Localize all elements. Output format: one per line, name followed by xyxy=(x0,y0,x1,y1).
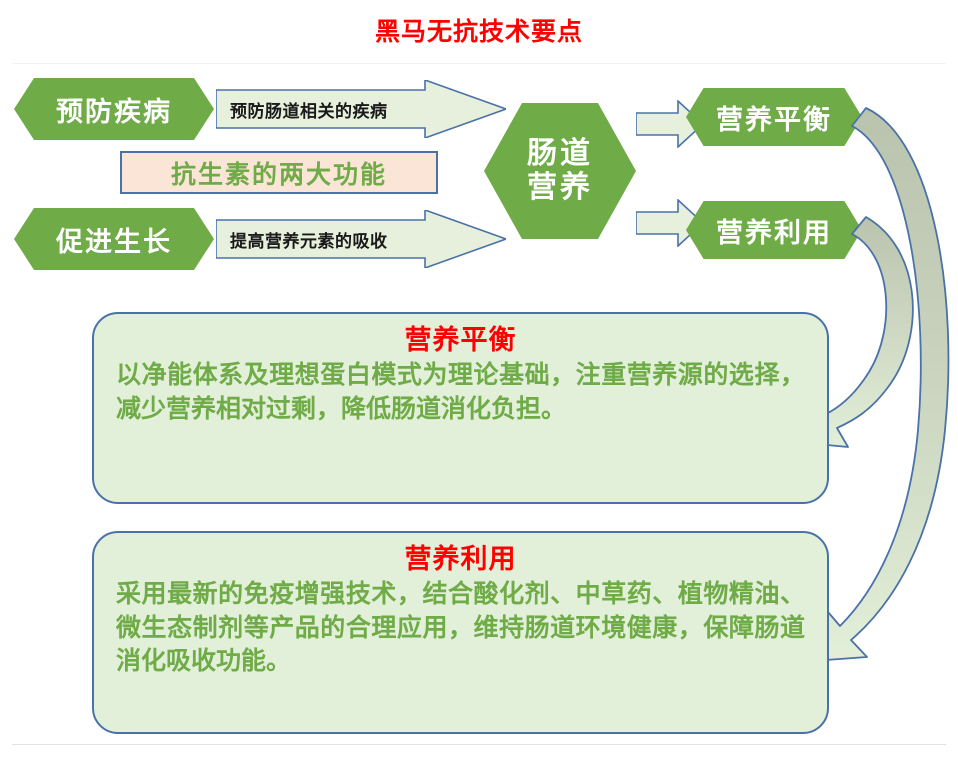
card-body: 以净能体系及理想蛋白模式为理论基础，注重营养源的选择，减少营养相对过剩，降低肠道… xyxy=(116,358,805,426)
outcome-label: 营养利用 xyxy=(716,211,832,250)
detail-card-nutrition-balance: 营养平衡 以净能体系及理想蛋白模式为理论基础，注重营养源的选择，减少营养相对过剩… xyxy=(92,312,829,504)
function-detail-label: 提高营养元素的吸收 xyxy=(216,227,388,252)
card-body: 采用最新的免疫增强技术，结合酸化剂、中草药、植物精油、微生态制剂等产品的合理应用… xyxy=(116,577,805,678)
slide-canvas: 黑马无抗技术要点 预防疾病 预防肠道相关的疾病 抗生素的两大功能 促进生长 提高… xyxy=(0,0,958,757)
antibiotic-functions-text: 抗生素的两大功能 xyxy=(171,155,387,191)
function-detail-prevent-disease[interactable]: 预防肠道相关的疾病 xyxy=(216,80,506,138)
outcome-nutrition-utilization[interactable]: 营养利用 xyxy=(686,201,862,259)
antibiotic-functions-label: 抗生素的两大功能 xyxy=(120,151,438,194)
hub-intestinal-nutrition[interactable]: 肠道 营养 xyxy=(484,103,636,239)
function-detail-promote-growth[interactable]: 提高营养元素的吸收 xyxy=(216,210,506,268)
top-divider xyxy=(12,63,946,64)
function-detail-label: 预防肠道相关的疾病 xyxy=(216,97,388,122)
hub-line-1: 肠道 xyxy=(527,137,593,171)
outcome-label: 营养平衡 xyxy=(716,98,832,137)
bottom-divider xyxy=(12,744,946,745)
outcome-nutrition-balance[interactable]: 营养平衡 xyxy=(686,88,862,146)
curved-arrow-icon xyxy=(812,108,948,661)
function-tag-label: 预防疾病 xyxy=(56,90,172,129)
hub-line-2: 营养 xyxy=(527,171,593,205)
function-tag-promote-growth[interactable]: 促进生长 xyxy=(14,208,214,270)
detail-card-nutrition-utilization: 营养利用 采用最新的免疫增强技术，结合酸化剂、中草药、植物精油、微生态制剂等产品… xyxy=(92,531,829,734)
page-title: 黑马无抗技术要点 xyxy=(0,18,958,46)
function-tag-label: 促进生长 xyxy=(56,220,172,259)
function-tag-prevent-disease[interactable]: 预防疾病 xyxy=(14,78,214,140)
card-title: 营养利用 xyxy=(116,543,805,577)
card-title: 营养平衡 xyxy=(116,324,805,358)
